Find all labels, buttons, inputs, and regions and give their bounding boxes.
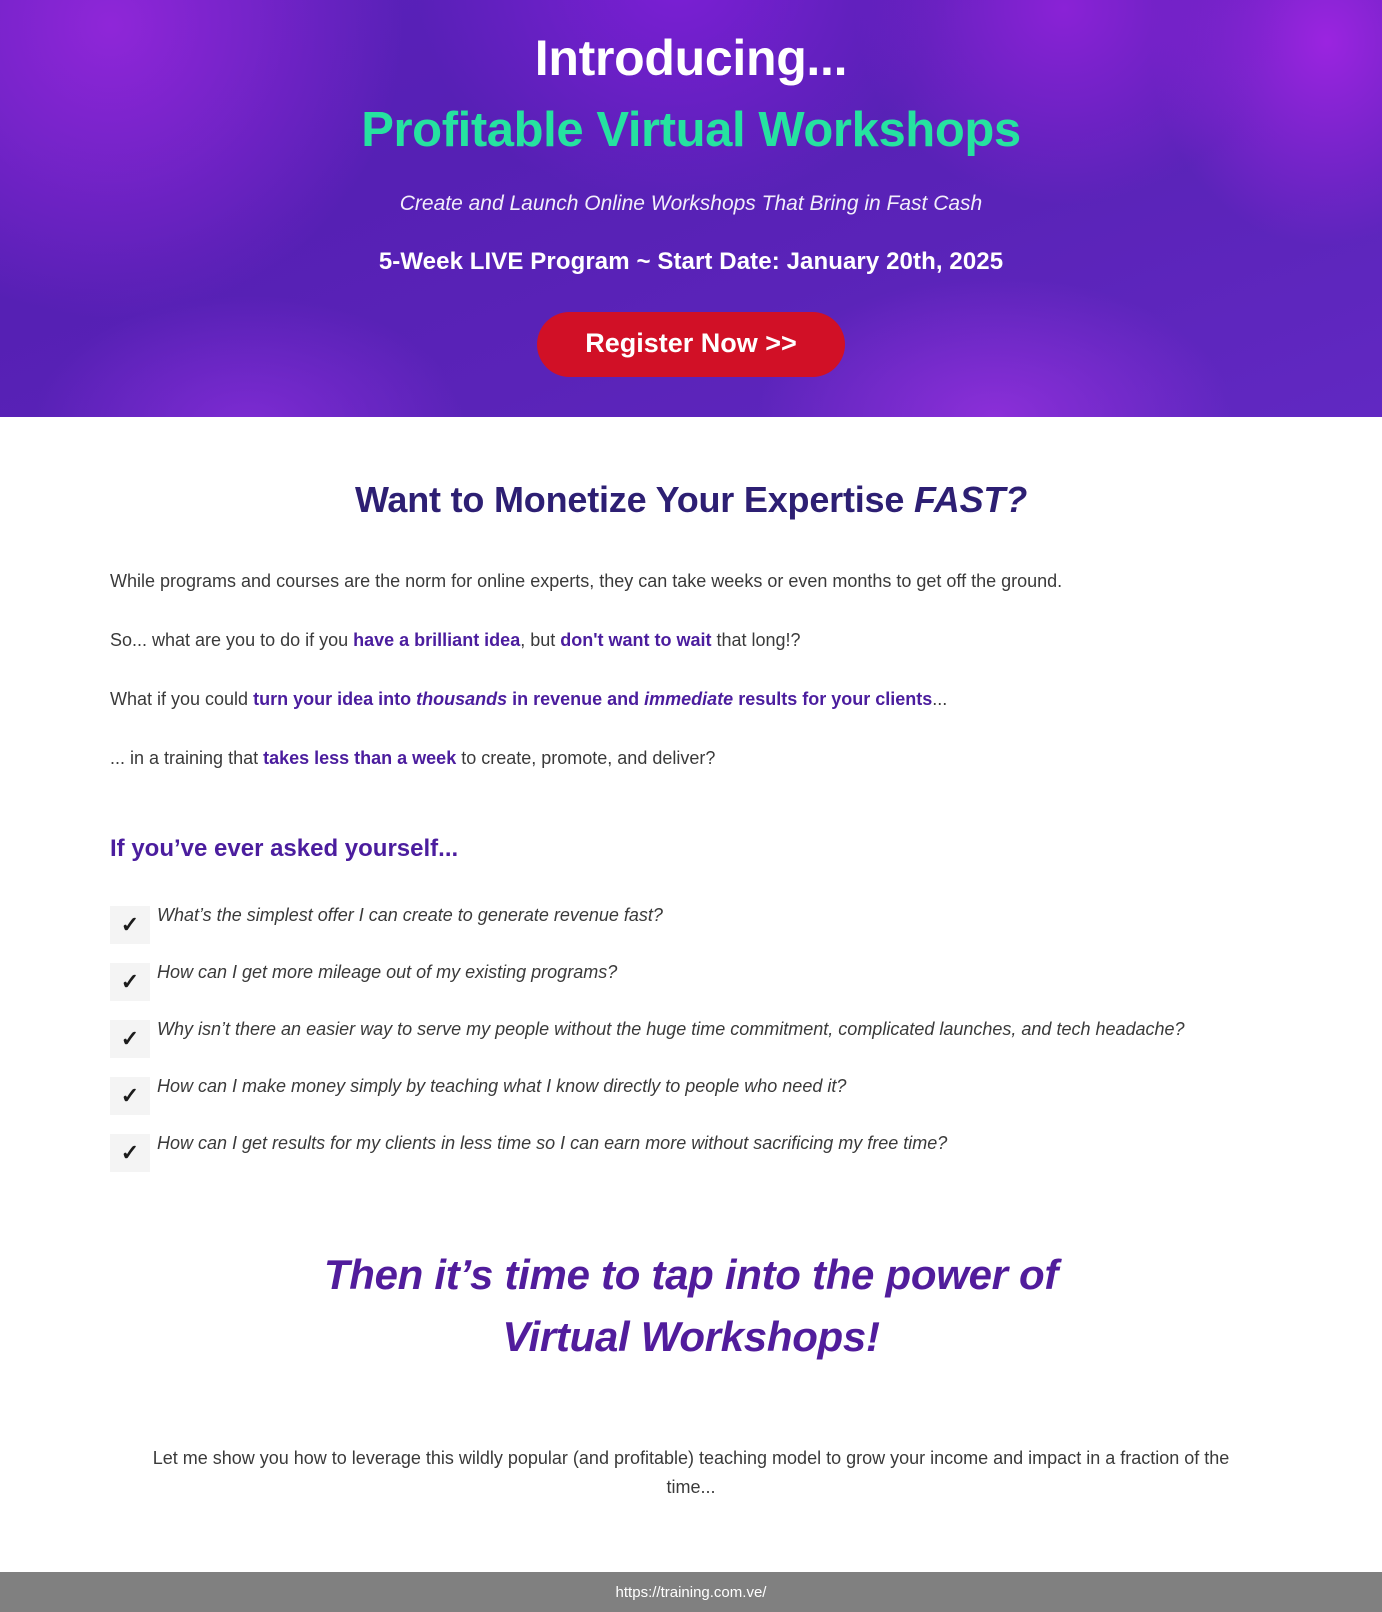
hero-title: Introducing... xyxy=(0,28,1382,88)
list-item: ✓How can I get results for my clients in… xyxy=(110,1129,1272,1172)
check-icon: ✓ xyxy=(110,963,150,1001)
list-item: ✓How can I get more mileage out of my ex… xyxy=(110,958,1272,1001)
hero-banner: Introducing... Profitable Virtual Worksh… xyxy=(0,0,1382,417)
list-item: ✓Why isn’t there an easier way to serve … xyxy=(110,1015,1272,1058)
hero-subtitle: Profitable Virtual Workshops xyxy=(0,100,1382,161)
intro-paragraph-4: ... in a training that takes less than a… xyxy=(110,745,1140,773)
big-heading-line-1: Then it’s time to tap into the power of xyxy=(324,1251,1058,1298)
intro-paragraph-2: So... what are you to do if you have a b… xyxy=(110,627,1140,655)
footer-url-bar: https://training.com.ve/ xyxy=(0,1572,1382,1612)
p3-italic-1: thousands xyxy=(416,689,507,709)
check-icon: ✓ xyxy=(110,1134,150,1172)
list-item-label: What’s the simplest offer I can create t… xyxy=(157,905,663,925)
p3-bold-2: in revenue and xyxy=(507,689,644,709)
p3-bold-1: turn your idea into xyxy=(253,689,416,709)
register-now-button[interactable]: Register Now >> xyxy=(537,312,845,377)
asked-yourself-heading: If you’ve ever asked yourself... xyxy=(110,835,1272,863)
power-of-workshops-heading: Then it’s time to tap into the power of … xyxy=(110,1244,1272,1368)
p4-part-c: to create, promote, and deliver? xyxy=(456,748,715,768)
p3-part-d: ... xyxy=(932,689,947,709)
page-title-plain: Want to Monetize Your Expertise xyxy=(355,479,914,520)
check-icon: ✓ xyxy=(110,906,150,944)
hero-tagline: Create and Launch Online Workshops That … xyxy=(0,192,1382,216)
p2-part-c: , but xyxy=(520,630,560,650)
list-item-label: How can I get more mileage out of my exi… xyxy=(157,962,617,982)
intro-paragraph-3: What if you could turn your idea into th… xyxy=(110,686,1140,714)
big-heading-line-2: Virtual Workshops! xyxy=(502,1313,879,1360)
p2-part-a: So... what are you to do if you xyxy=(110,630,353,650)
list-item-label: How can I make money simply by teaching … xyxy=(157,1076,846,1096)
hero-content: Introducing... Profitable Virtual Worksh… xyxy=(0,0,1382,377)
main-content: Want to Monetize Your Expertise FAST? Wh… xyxy=(0,479,1382,1501)
p4-part-a: ... in a training that xyxy=(110,748,263,768)
p3-italic-2: immediate xyxy=(644,689,733,709)
list-item-label: How can I get results for my clients in … xyxy=(157,1133,947,1153)
closing-paragraph: Let me show you how to leverage this wil… xyxy=(110,1444,1272,1502)
hero-cta-wrap: Register Now >> xyxy=(0,312,1382,377)
check-icon: ✓ xyxy=(110,1077,150,1115)
p2-bold-1: have a brilliant idea xyxy=(353,630,520,650)
p4-bold-1: takes less than a week xyxy=(263,748,456,768)
page-title: Want to Monetize Your Expertise FAST? xyxy=(110,479,1272,521)
p3-part-a: What if you could xyxy=(110,689,253,709)
list-item-label: Why isn’t there an easier way to serve m… xyxy=(157,1019,1185,1039)
p2-part-d: that long!? xyxy=(712,630,801,650)
question-check-list: ✓What’s the simplest offer I can create … xyxy=(110,901,1272,1172)
intro-paragraph-1: While programs and courses are the norm … xyxy=(110,568,1140,596)
footer-url-text[interactable]: https://training.com.ve/ xyxy=(616,1584,767,1601)
list-item: ✓How can I make money simply by teaching… xyxy=(110,1072,1272,1115)
p3-bold-3: results for your clients xyxy=(733,689,932,709)
page-title-emphasis: FAST? xyxy=(914,479,1027,520)
hero-program-date: 5-Week LIVE Program ~ Start Date: Januar… xyxy=(0,248,1382,276)
p2-bold-2: don't want to wait xyxy=(560,630,711,650)
check-icon: ✓ xyxy=(110,1020,150,1058)
list-item: ✓What’s the simplest offer I can create … xyxy=(110,901,1272,944)
